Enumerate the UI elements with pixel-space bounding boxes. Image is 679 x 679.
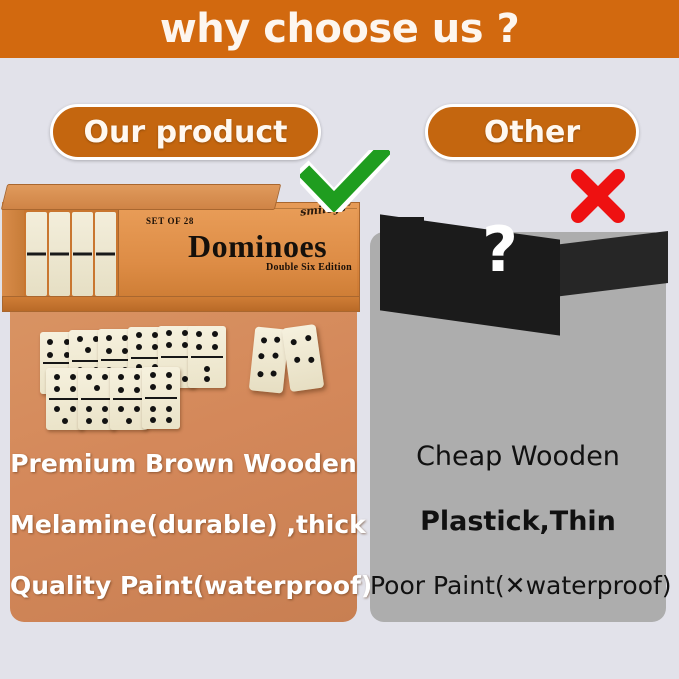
box-window-tile [49,212,70,296]
other-label-pill: Other [425,104,639,160]
our-feature-3: Quality Paint(waterproof) [10,571,357,600]
green-check-icon [300,150,390,212]
box-window-tile [26,212,47,296]
box-tile-window [24,210,118,298]
other-product-feature-list: Cheap Wooden Plastick,Thin Poor Paint(✕w… [370,232,666,622]
box-left-wall [2,202,25,306]
header-banner: why choose us ? [0,0,679,58]
red-cross-icon [568,168,628,224]
our-product-label-text: Our product [84,115,288,150]
box-set-count-text: SET OF 28 [146,216,194,226]
box-lid [1,184,281,210]
box-window-tile [72,212,93,296]
box-product-name-text: Dominoes [188,228,327,265]
other-feature-1: Cheap Wooden [370,441,666,472]
box-edition-text: Double Six Edition [266,262,352,273]
our-product-label-pill: Our product [50,104,321,160]
box-window-tile [95,212,116,296]
other-feature-2: Plastick,Thin [370,506,666,537]
other-feature-3: Poor Paint(✕waterproof) [370,571,666,600]
other-label-text: Other [484,115,580,150]
our-feature-2: Melamine(durable) ,thick [10,510,357,539]
our-feature-1: Premium Brown Wooden [10,449,357,478]
page-title: why choose us ? [160,9,519,49]
our-product-feature-list: Premium Brown Wooden Melamine(durable) ,… [10,300,357,622]
